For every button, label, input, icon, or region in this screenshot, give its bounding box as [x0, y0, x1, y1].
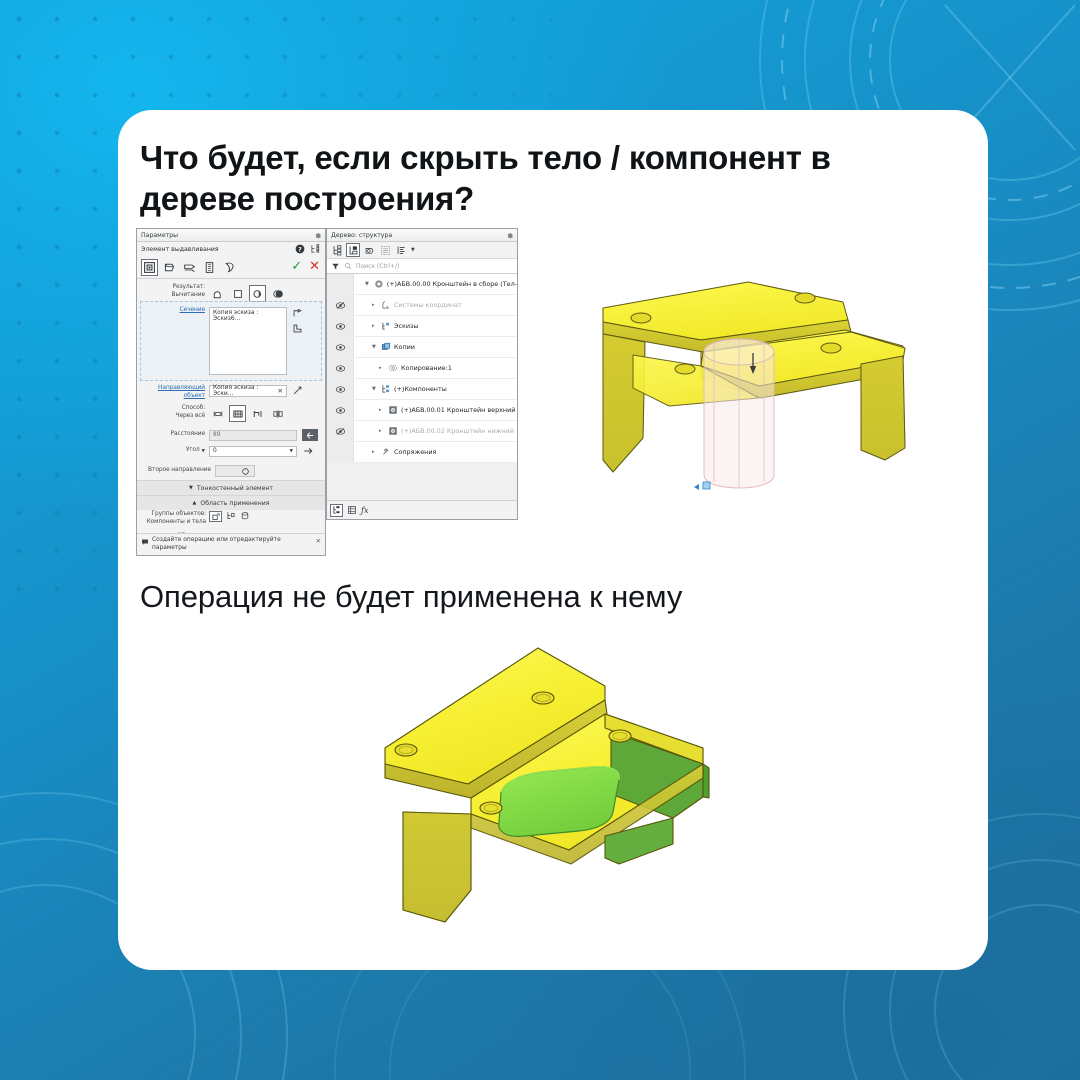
parameters-toolbar: ✓ ✕ [137, 257, 325, 279]
status-message: Создайте операцию или отредактируйте пар… [152, 537, 316, 553]
angle-row: Угол ▼ 0 ▼ [137, 445, 325, 457]
result-label-2: Вычитание [137, 292, 205, 300]
distance-input[interactable]: 89 [209, 430, 297, 441]
eye-visible-icon[interactable] [335, 405, 346, 416]
content-card: Что будет, если скрыть тело / компонент … [118, 110, 988, 970]
thin-wall-section-header[interactable]: ▼ Тонкостенный элемент [137, 480, 325, 495]
svg-text:?: ? [298, 246, 302, 253]
chevron-down-icon: ▼ [189, 485, 193, 491]
drag-handle-markers[interactable] [694, 482, 710, 490]
direction-object-row: Направляющий объект Копия эскиза : Эски.… [137, 385, 325, 401]
confirm-button[interactable]: ✓ [291, 260, 302, 273]
result-label-1: Результат: [137, 284, 205, 292]
arrow-left-icon[interactable] [302, 429, 318, 441]
tree-row[interactable]: ▼(+)АБВ.00.00 Кронштейн в сборе (Тел- [327, 274, 517, 295]
through-all-icon[interactable] [229, 405, 246, 422]
tree-item-label: Системы координат [394, 301, 462, 309]
visibility-toggle [327, 442, 354, 462]
status-bar: Создайте операцию или отредактируйте пар… [137, 533, 325, 555]
fx-icon[interactable]: ƒx [361, 506, 368, 515]
tree-item-label: (+)АБВ.00.00 Кронштейн в сборе (Тел- [387, 280, 517, 288]
angle-label: Угол [186, 447, 200, 455]
caret-right-icon[interactable]: ▸ [379, 407, 385, 413]
caret-right-icon[interactable]: ▸ [372, 323, 378, 329]
parameters-body: Результат: Вычитание [137, 279, 325, 493]
tree-toolbar: ▼ [327, 242, 517, 259]
model-viewport-bottom [373, 622, 743, 952]
mates-icon [381, 447, 391, 457]
section-label[interactable]: Сечение [137, 307, 205, 315]
tree-flat-icon[interactable] [330, 504, 343, 517]
profile-icon[interactable] [292, 323, 303, 334]
search-icon [344, 262, 352, 270]
tree-item-label: Копирование:1 [401, 364, 452, 372]
body-icon[interactable] [240, 511, 250, 521]
eye-visible-icon[interactable] [335, 363, 346, 374]
parameters-panel-titlebar: Параметры [137, 229, 325, 242]
tree-relations-icon[interactable] [362, 243, 376, 257]
section-list[interactable]: Копия эскиза : Эскиз6... [209, 307, 287, 375]
visibility-toggle[interactable] [327, 337, 354, 357]
chevron-down-icon[interactable]: ▼ [290, 449, 293, 454]
tree-item-label: Копии [394, 343, 415, 351]
tree-row[interactable]: ▸Сопряжения [327, 442, 517, 463]
sweep-icon[interactable] [181, 259, 198, 276]
parameters-panel: Параметры Элемент выдавливания ? [136, 228, 326, 556]
tree-model-icon[interactable] [346, 243, 360, 257]
tree-list-icon[interactable] [378, 243, 392, 257]
distance-label: Расстояние [137, 431, 205, 439]
scope-body: Группы объектов: Компоненты и тела [137, 510, 325, 534]
tree-row[interactable]: ▼(+)Компоненты [327, 379, 517, 400]
scope-groups-row: Группы объектов: Компоненты и тела [137, 511, 325, 527]
caret-right-icon[interactable]: ▸ [372, 302, 378, 308]
visibility-toggle [327, 274, 354, 294]
visibility-toggle[interactable] [327, 379, 354, 399]
tree-icon[interactable] [310, 244, 320, 254]
result-row: Результат: Вычитание [137, 284, 325, 302]
chevron-down-icon[interactable]: ▼ [411, 247, 415, 253]
question-icon[interactable]: ? [295, 244, 305, 254]
tree-table-icon[interactable] [347, 505, 357, 515]
second-direction-row: Второе направление [137, 465, 325, 477]
angle-dropdown-caret[interactable]: ▼ [202, 449, 205, 454]
cad-screenshot: Параметры Элемент выдавливания ? [136, 228, 518, 558]
eye-hidden-icon[interactable] [335, 300, 346, 311]
caret-right-icon[interactable]: ▸ [379, 365, 385, 371]
axis-icon[interactable] [292, 385, 303, 396]
scope-section-header[interactable]: ▲ Область применения [137, 495, 325, 510]
direction-object-clear-button[interactable]: ✕ [278, 387, 283, 395]
caret-down-icon[interactable]: ▼ [365, 281, 371, 287]
tree-item-label: Сопряжения [394, 448, 436, 456]
direction-object-value: Копия эскиза : Эски... [213, 385, 278, 397]
tree-row[interactable]: ▸(+)АБВ.00.01 Кронштейн верхний [327, 400, 517, 421]
structure-icon[interactable] [226, 511, 236, 521]
cancel-button[interactable]: ✕ [309, 260, 320, 273]
tree-row[interactable]: ▸Эскизы [327, 316, 517, 337]
gear-icon[interactable] [314, 232, 322, 240]
thin-wall-section-label: Тонкостенный элемент [197, 485, 273, 492]
tree-panel: Дерево: структура [326, 228, 518, 520]
parameters-subtitle: Элемент выдавливания [141, 246, 219, 253]
tree-structure-icon[interactable] [330, 243, 344, 257]
visibility-toggle[interactable] [327, 400, 354, 420]
direction-object-label-1[interactable]: Направляющий [137, 385, 205, 393]
section-row: Сечение Копия эскиза : Эскиз6... [137, 307, 325, 375]
answer-text: Операция не будет применена к нему [140, 578, 960, 615]
tree-item-label: (+)АБВ.00.01 Кронштейн верхний [401, 406, 515, 414]
tree-footer-toolbar: ƒx [327, 500, 517, 519]
chevron-up-icon: ▲ [192, 500, 196, 506]
second-direction-toggle[interactable] [215, 465, 255, 477]
parameters-panel-title: Параметры [141, 232, 178, 239]
gear-icon[interactable] [506, 232, 514, 240]
part-icon [388, 426, 398, 436]
distance-row: Расстояние 89 [137, 429, 325, 441]
coordinate-icon [381, 300, 391, 310]
sheet-icon[interactable] [221, 259, 238, 276]
tree-search-bar[interactable]: Поиск (Ctrl+/) [327, 259, 517, 274]
page-title: Что будет, если скрыть тело / компонент … [140, 138, 940, 220]
visibility-toggle[interactable] [327, 295, 354, 315]
caret-down-icon[interactable]: ▼ [372, 344, 378, 350]
eye-visible-icon[interactable] [335, 384, 346, 395]
method-row: Способ: Через всё [137, 405, 325, 422]
tree-search-placeholder: Поиск (Ctrl+/) [356, 263, 399, 270]
blind-icon[interactable] [209, 405, 226, 422]
copy-op-icon [388, 363, 398, 373]
scope-groups-label-2: Компоненты и тела [137, 519, 206, 527]
subtract-icon[interactable] [249, 285, 266, 302]
component-body-icon[interactable] [209, 511, 222, 522]
tree-panel-title: Дерево: структура [331, 232, 392, 239]
box-icon[interactable] [229, 285, 246, 302]
section-value: Копия эскиза : Эскиз6... [213, 310, 283, 322]
tree-row[interactable]: ▸(+)АБВ.00.02 Кронштейн нижний [327, 421, 517, 442]
visibility-toggle[interactable] [327, 316, 354, 336]
copies-icon [381, 342, 391, 352]
status-close-button[interactable]: ✕ [316, 537, 321, 546]
tree-rows: ▼(+)АБВ.00.00 Кронштейн в сборе (Тел-▸Си… [327, 274, 517, 463]
part-icon [388, 405, 398, 415]
direction-object-field[interactable]: Копия эскиза : Эски... ✕ [209, 385, 287, 397]
assembly-icon [374, 279, 384, 289]
scope-section-label: Область применения [200, 500, 269, 507]
symmetric-icon[interactable] [269, 405, 286, 422]
tree-filter-icon[interactable] [394, 243, 408, 257]
arrow-right-icon[interactable] [302, 445, 314, 457]
eye-hidden-icon[interactable] [335, 426, 346, 437]
visibility-toggle[interactable] [327, 421, 354, 441]
model-viewport-top [573, 260, 933, 510]
method-label-1: Способ: [137, 405, 205, 413]
sketch-icon [381, 321, 391, 331]
hint-icon [141, 538, 149, 546]
filter-icon[interactable] [331, 262, 340, 271]
loft-icon[interactable] [201, 259, 218, 276]
revolve-icon[interactable] [161, 259, 178, 276]
to-surface-icon[interactable] [249, 405, 266, 422]
caret-right-icon[interactable]: ▸ [372, 449, 378, 455]
eye-visible-icon[interactable] [335, 342, 346, 353]
union-icon[interactable] [209, 285, 226, 302]
caret-right-icon[interactable]: ▸ [379, 428, 385, 434]
tree-item-label: (+)АБВ.00.02 Кронштейн нижний [401, 427, 514, 435]
scope-groups-label-1: Группы объектов: [137, 511, 206, 519]
second-direction-label: Второе направление [137, 467, 211, 475]
intersect-icon[interactable] [269, 285, 286, 302]
tree-panel-titlebar: Дерево: структура [327, 229, 517, 242]
angle-value: 0 [213, 448, 217, 454]
tree-row[interactable]: ▼Копии [327, 337, 517, 358]
sketch-pick-icon[interactable] [292, 308, 303, 319]
parameters-subtitle-bar: Элемент выдавливания ? [137, 242, 325, 257]
direction-object-label-2[interactable]: объект [137, 393, 205, 401]
components-icon [381, 384, 391, 394]
method-label-2: Через всё [137, 413, 205, 421]
visibility-toggle[interactable] [327, 358, 354, 378]
tree-item-label: Эскизы [394, 322, 418, 330]
tree-item-label: (+)Компоненты [394, 385, 447, 393]
distance-value: 89 [213, 432, 221, 438]
tree-row[interactable]: ▸Копирование:1 [327, 358, 517, 379]
angle-input[interactable]: 0 ▼ [209, 446, 297, 457]
caret-down-icon[interactable]: ▼ [372, 386, 378, 392]
tree-row[interactable]: ▸Системы координат [327, 295, 517, 316]
eye-visible-icon[interactable] [335, 321, 346, 332]
extrude-icon[interactable] [141, 259, 158, 276]
